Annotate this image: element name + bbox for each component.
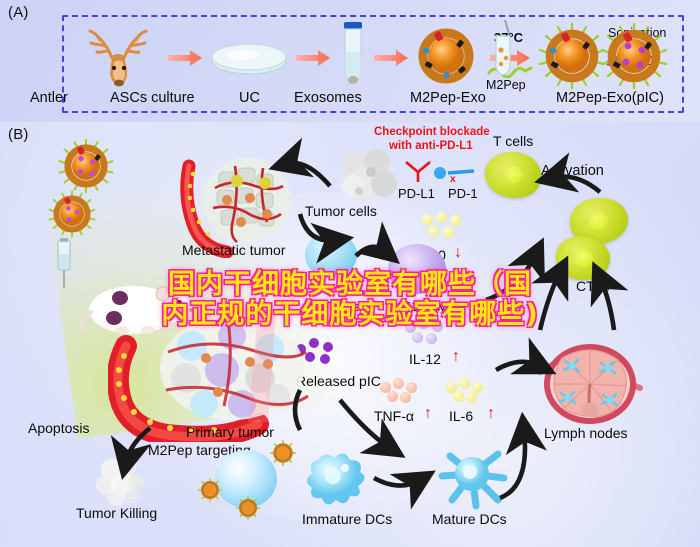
ctls-label: CTLs — [576, 278, 609, 294]
petri-dish-icon — [210, 42, 288, 76]
tumor-cells-label: Tumor cells — [305, 203, 377, 219]
il12-label: IL-12 — [409, 351, 441, 367]
centrifuge-tube-icon — [340, 22, 366, 90]
exosome-icon — [414, 24, 478, 88]
il12-cytokine-dots — [405, 318, 453, 346]
floating-exosome-2 — [48, 190, 96, 238]
il12-up-arrow: ↑ — [452, 348, 460, 366]
m2pep-exosome-icon — [538, 22, 606, 90]
primary-tumor-label: Primary tumor — [186, 424, 274, 440]
svg-text:x: x — [450, 174, 456, 185]
step-label-antler: Antler — [30, 90, 68, 106]
deer-antler-icon — [78, 26, 162, 88]
figure-canvas: (A) — [0, 0, 700, 547]
process-arrow-1 — [168, 50, 202, 66]
apoptosis-label: Apoptosis — [28, 420, 89, 436]
apoptotic-cell-icon — [88, 452, 154, 508]
t-cells-label: T cells — [493, 133, 533, 149]
process-arrow-2 — [296, 50, 330, 66]
floating-exosome-1 — [58, 138, 114, 194]
lymph-node-icon — [532, 338, 648, 430]
step-label-uc: UC — [239, 90, 260, 106]
panel-b-tag: (B) — [8, 126, 29, 143]
primary-tumor-icon — [108, 312, 338, 442]
t-cell-primary — [485, 152, 541, 198]
activation-label: Activation — [541, 163, 604, 179]
panel-a: (A) — [0, 0, 700, 122]
tnf-alpha-up-arrow: ↑ — [424, 405, 432, 423]
ctl-cell-2 — [556, 236, 610, 280]
step-label-exosomes: Exosomes — [294, 90, 362, 106]
checkpoint-blockade-line1: Checkpoint blockade — [374, 126, 490, 138]
metastatic-tumor-label: Metastatic tumor — [182, 242, 285, 258]
syringe-icon — [48, 238, 82, 296]
targeting-exosome-3 — [236, 496, 260, 520]
il6-up-arrow: ↑ — [487, 405, 495, 423]
checkpoint-blockade-line2: with anti-PD-L1 — [389, 140, 473, 152]
immature-dendritic-cell-icon — [300, 448, 370, 510]
step-label-m2pep-exo-pic: M2Pep-Exo(pIC) — [556, 90, 664, 106]
m2-tam-cell — [305, 232, 357, 278]
il10-down-arrow: ↓ — [454, 244, 462, 262]
mature-dendritic-cell-icon — [436, 446, 512, 512]
step-label-m2pep-exo: M2Pep-Exo — [410, 90, 486, 106]
step-label-asc-culture: ASCs culture — [110, 90, 195, 106]
lymph-nodes-label: Lymph nodes — [544, 425, 628, 441]
panel-a-tag: (A) — [8, 4, 29, 21]
pd-l1-label: PD-L1 — [398, 186, 435, 201]
il6-cytokine-dots — [446, 378, 492, 404]
immature-dcs-label: Immature DCs — [302, 511, 392, 527]
targeting-exosome-2 — [198, 478, 222, 502]
tnf-alpha-label: TNF-α — [374, 408, 414, 424]
mature-dcs-label: Mature DCs — [432, 511, 507, 527]
targeting-exosome-1 — [270, 440, 296, 466]
il6-label: IL-6 — [449, 408, 473, 424]
tumor-killing-label: Tumor Killing — [76, 505, 157, 521]
pd-1-label: PD-1 — [448, 186, 478, 201]
il10-cytokine-dots — [420, 212, 464, 242]
tumor-cells-icon — [337, 146, 403, 208]
tnf-alpha-cytokine-dots — [380, 378, 426, 404]
sonication-tube-icon — [492, 20, 514, 82]
m1-tams-label: M1 TAMs — [400, 299, 454, 314]
m2pep-exosome-pic-icon — [600, 22, 668, 90]
m1-tam-cell — [388, 244, 446, 294]
process-arrow-3 — [374, 50, 408, 66]
